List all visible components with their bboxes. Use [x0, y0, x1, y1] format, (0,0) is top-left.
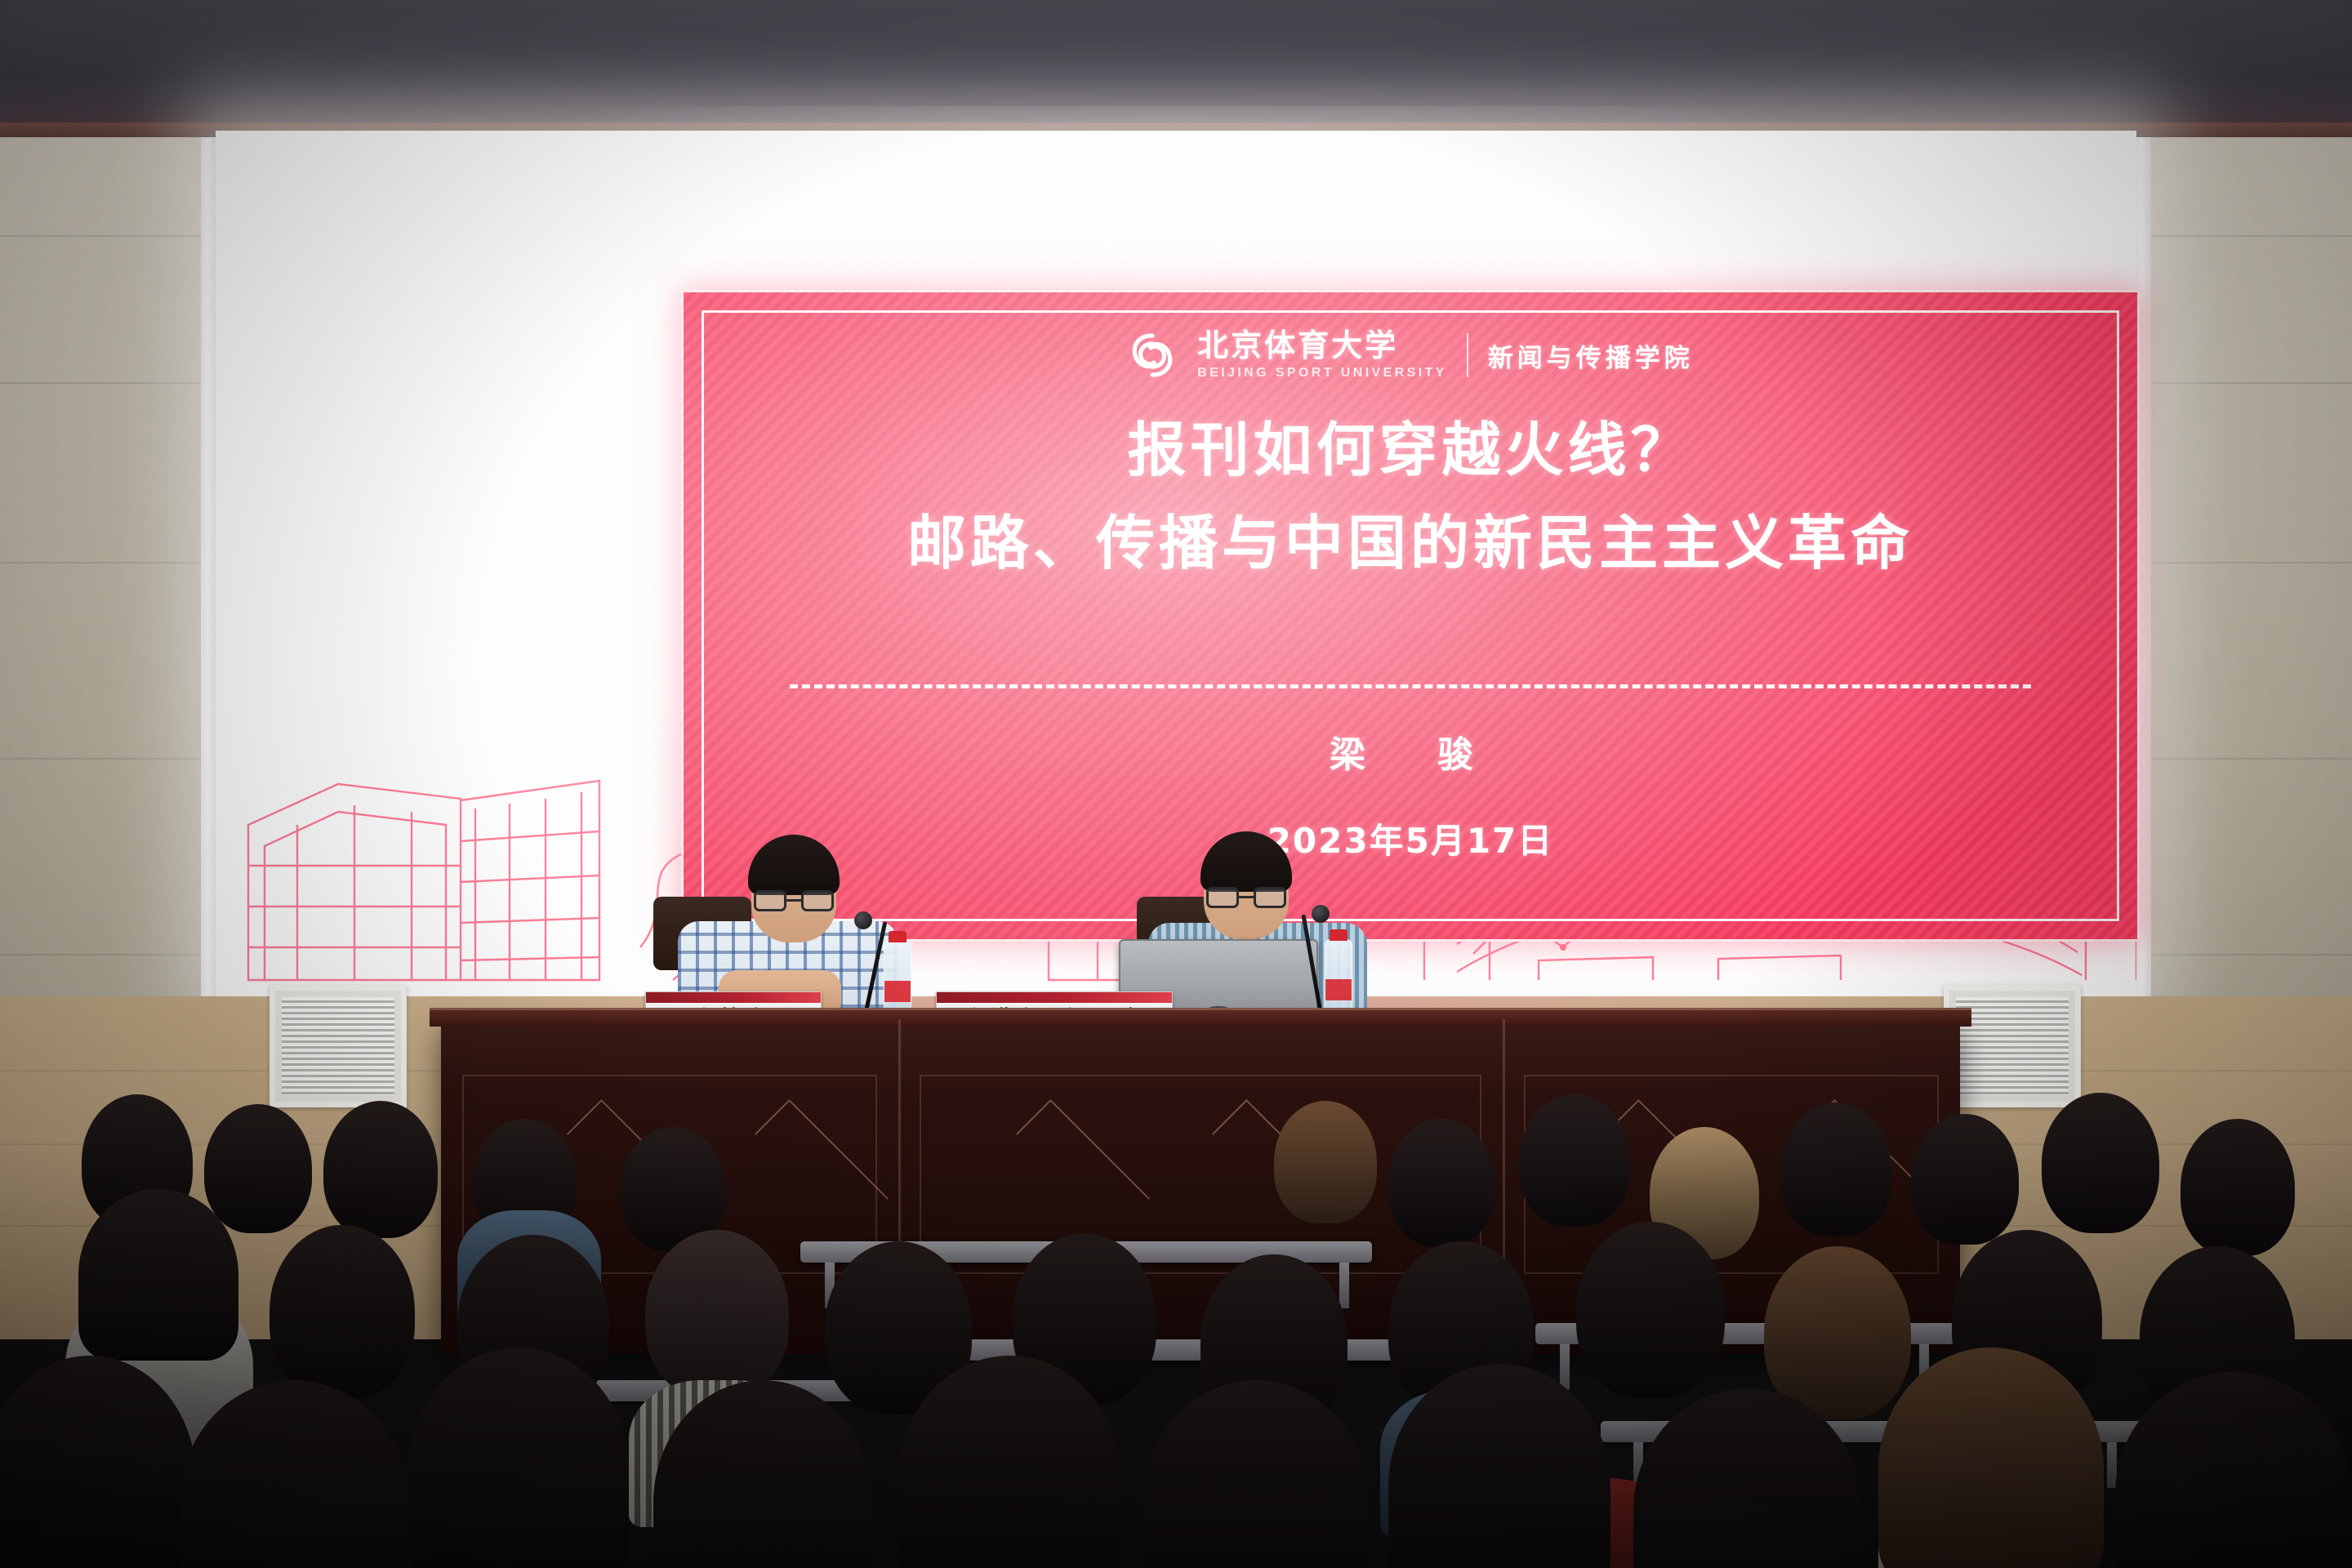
audience-person: [2042, 1093, 2159, 1233]
audience-person: [645, 1230, 789, 1398]
presentation-slide: 北京体育大学 BEIJING SPORT UNIVERSITY 新闻与传播学院 …: [681, 290, 2140, 942]
slide-logo-lockup: 北京体育大学 BEIJING SPORT UNIVERSITY 新闻与传播学院: [684, 325, 2137, 385]
microphone-head-left: [854, 911, 872, 929]
audience-person: [1764, 1246, 1911, 1419]
university-name-block: 北京体育大学 BEIJING SPORT UNIVERSITY: [1197, 330, 1447, 381]
audience-person: [323, 1101, 438, 1238]
audience-person: [1143, 1380, 1369, 1568]
audience-area: [0, 996, 2352, 1568]
moderator-glasses: [754, 890, 834, 911]
university-name-en: BEIJING SPORT UNIVERSITY: [1197, 366, 1447, 381]
lecture-hall-photo: 体育科学楼 北京体育大学 北京体育大: [0, 0, 2352, 1568]
slide-date: 2023年5月17日: [684, 813, 2137, 863]
audience-person: [1388, 1119, 1494, 1246]
slide-meta: 梁 骏 2023年5月17日: [684, 725, 2137, 863]
department-name: 新闻与传播学院: [1488, 337, 1694, 374]
university-name-cn: 北京体育大学: [1197, 330, 1398, 361]
audience-person: [2180, 1119, 2295, 1256]
microphone-head-right: [1312, 905, 1330, 923]
audience-person: [78, 1189, 238, 1361]
audience-person: [269, 1225, 415, 1398]
audience-person: [1576, 1222, 1725, 1398]
slide-title-line-1: 报刊如何穿越火线？: [741, 415, 2080, 487]
audience-person: [2115, 1372, 2352, 1568]
slide-dashed-divider: [790, 684, 2031, 688]
led-display-wall: 体育科学楼 北京体育大学 北京体育大: [216, 131, 2136, 996]
audience-person: [204, 1104, 312, 1233]
audience-person: [1780, 1102, 1891, 1236]
audience-person: [1274, 1101, 1377, 1223]
logo-divider: [1467, 333, 1468, 377]
audience-person: [1911, 1114, 2019, 1245]
ceiling: [0, 0, 2352, 137]
slide-title: 报刊如何穿越火线？ 邮路、传播与中国的新民主主义革命: [741, 415, 2080, 580]
audience-person: [1519, 1094, 1630, 1227]
bsu-swirl-icon: [1127, 330, 1178, 381]
speaker-glasses: [1206, 887, 1286, 908]
slide-speaker-name: 梁 骏: [684, 725, 2137, 777]
slide-title-line-2: 邮路、传播与中国的新民主主义革命: [741, 508, 2080, 580]
